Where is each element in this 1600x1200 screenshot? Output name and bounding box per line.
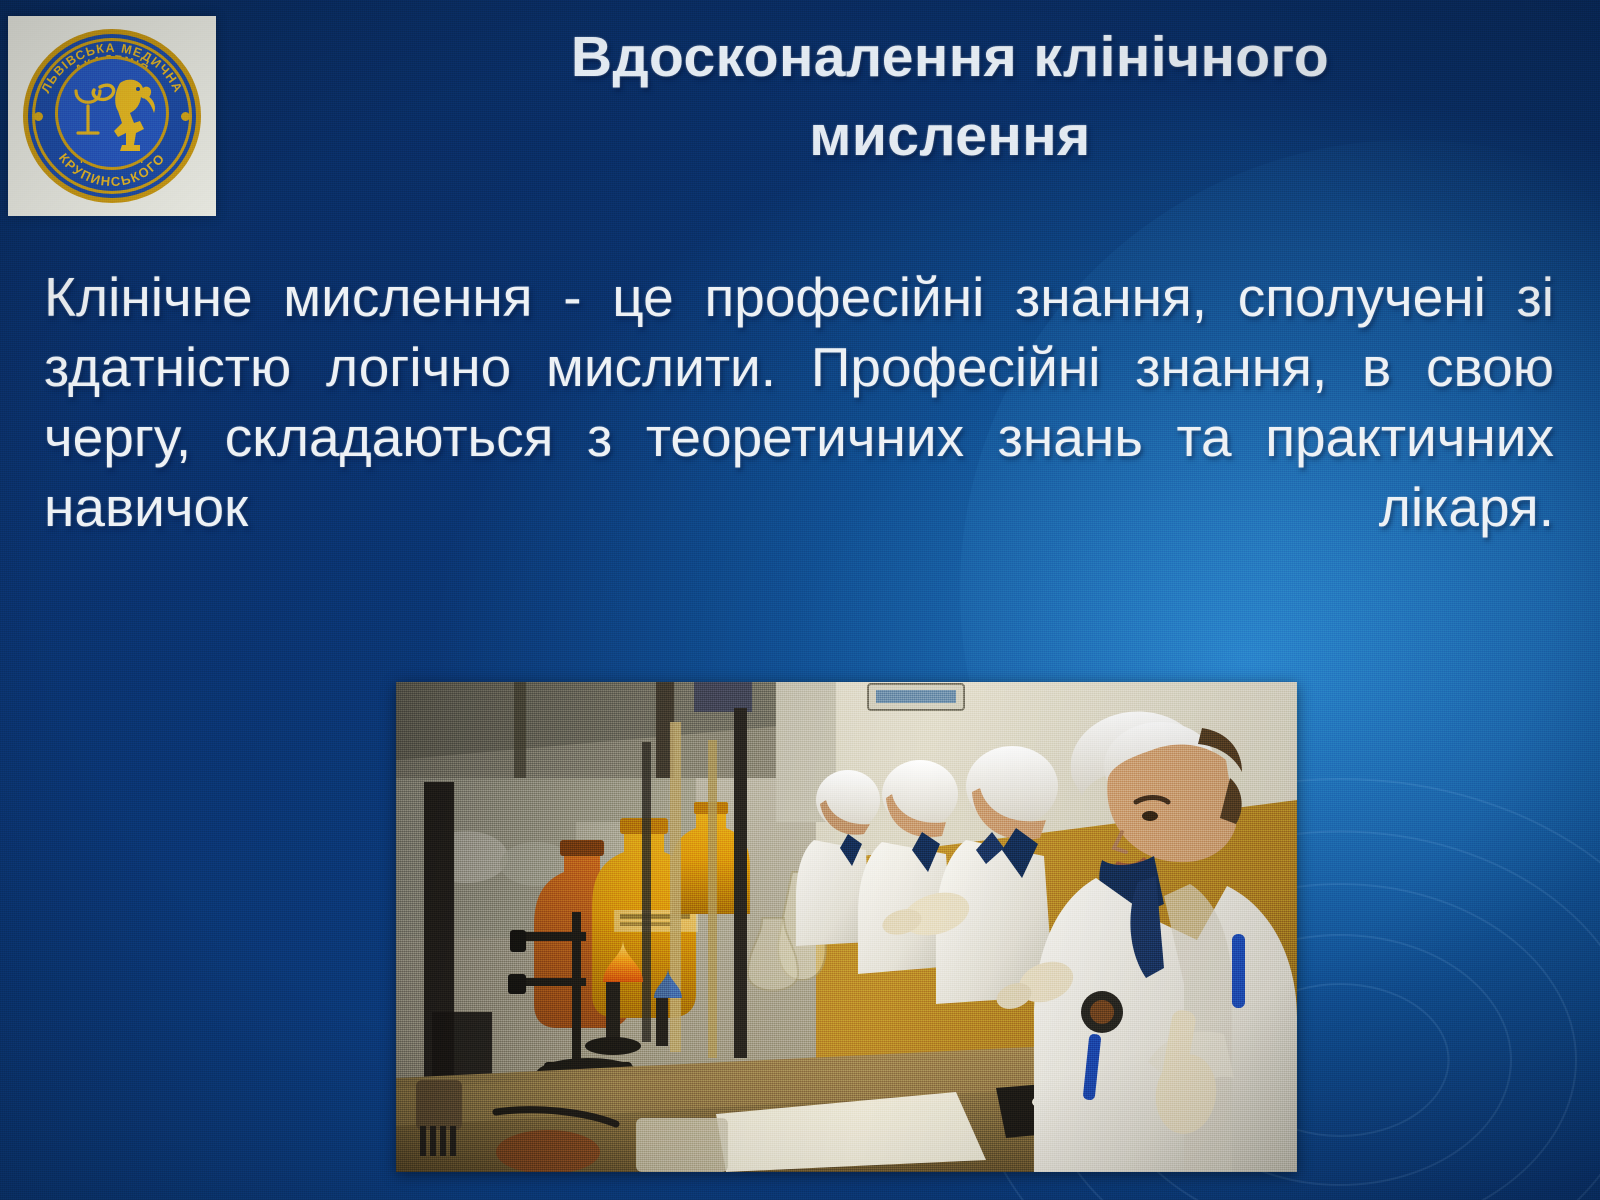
laboratory-photo: [396, 682, 1297, 1172]
lion-and-bowl-icon: [60, 61, 164, 165]
body-paragraph: Клінічне мислення - це професійні знання…: [44, 262, 1554, 613]
slide-body-text: Клінічне мислення - це професійні знання…: [44, 262, 1554, 613]
academy-crest-icon: ЛЬВІВСЬКА МЕДИЧНА АКАДЕМІЯ КРУПИНСЬКОГО …: [23, 29, 201, 203]
slide-title: Вдосконалення клінічного мислення: [330, 18, 1570, 175]
presentation-slide: ЛЬВІВСЬКА МЕДИЧНА АКАДЕМІЯ КРУПИНСЬКОГО …: [0, 0, 1600, 1200]
title-line-1: Вдосконалення клінічного: [571, 25, 1329, 89]
academy-logo: ЛЬВІВСЬКА МЕДИЧНА АКАДЕМІЯ КРУПИНСЬКОГО …: [8, 16, 216, 216]
title-line-2: мислення: [330, 97, 1570, 176]
